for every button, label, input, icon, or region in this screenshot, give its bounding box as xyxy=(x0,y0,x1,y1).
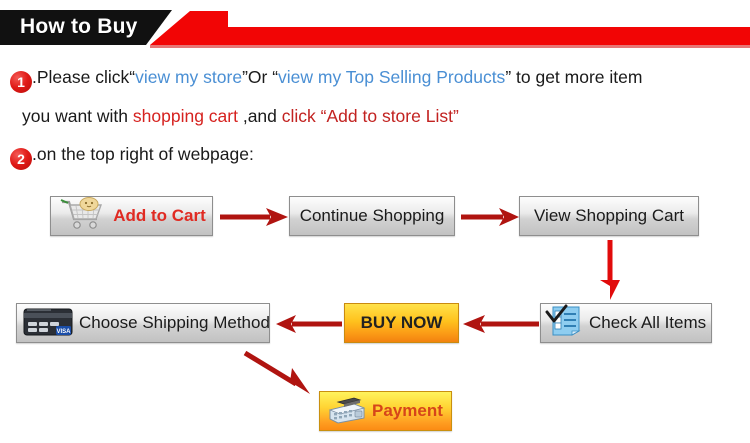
shopping-cart-icon xyxy=(59,197,105,236)
flow-box-buy-now[interactable]: BUY NOW xyxy=(344,303,459,343)
line3-seg-0: .on the top right of webpage: xyxy=(32,144,254,164)
line2-seg-0: you want with xyxy=(22,106,133,126)
credit-card-icon: VISA xyxy=(21,304,75,343)
page-title: How to Buy xyxy=(20,10,150,44)
banner-red-shadow xyxy=(150,45,750,48)
flow-label-view-shopping-cart: View Shopping Cart xyxy=(534,206,684,226)
checklist-icon xyxy=(545,304,585,343)
link-view-my-top-selling-products[interactable]: view my Top Selling Products xyxy=(278,67,505,87)
arrow-left-buynow-to-shipping xyxy=(276,313,344,335)
text-shopping-cart: shopping cart xyxy=(133,106,238,126)
text-add-to-store-list: click “Add to store List” xyxy=(282,106,459,126)
flow-box-view-shopping-cart[interactable]: View Shopping Cart xyxy=(519,196,699,236)
instruction-line-1: 1.Please click“view my store”Or “view my… xyxy=(10,69,642,93)
flow-box-choose-shipping-method[interactable]: VISA Choose Shipping Method xyxy=(16,303,270,343)
flow-label-continue-shopping: Continue Shopping xyxy=(300,206,445,226)
how-to-buy-page: How to Buy 1.Please click“view my store”… xyxy=(0,0,750,443)
arrow-right-continue-to-viewcart xyxy=(459,206,521,228)
instruction-line-3: 2.on the top right of webpage: xyxy=(10,146,254,170)
arrow-diagonal-shipping-to-payment xyxy=(240,348,320,396)
arrow-right-cart-to-continue xyxy=(218,206,290,228)
flow-label-payment: Payment xyxy=(372,401,443,421)
instruction-line-2: you want with shopping cart ,and click “… xyxy=(22,108,459,126)
banner: How to Buy xyxy=(0,0,750,52)
step-1-badge: 1 xyxy=(10,71,32,93)
line2-seg-2: ,and xyxy=(238,106,282,126)
flow-box-payment[interactable]: Payment xyxy=(319,391,452,431)
flow-label-add-to-cart: Add to Cart xyxy=(113,206,206,226)
flow-box-continue-shopping[interactable]: Continue Shopping xyxy=(289,196,455,236)
arrow-left-check-to-buynow xyxy=(463,313,541,335)
flow-box-check-all-items[interactable]: Check All Items xyxy=(540,303,712,343)
line1-seg-2: ”Or “ xyxy=(242,67,278,87)
cash-register-icon xyxy=(324,392,368,431)
link-view-my-store[interactable]: view my store xyxy=(135,67,242,87)
flow-box-add-to-cart[interactable]: Add to Cart xyxy=(50,196,213,236)
arrow-down-viewcart-to-check xyxy=(595,240,625,302)
flow-label-choose-shipping-method: Choose Shipping Method xyxy=(79,313,270,333)
flow-label-buy-now: BUY NOW xyxy=(361,313,443,333)
svg-text:VISA: VISA xyxy=(56,329,71,335)
step-2-badge: 2 xyxy=(10,148,32,170)
flow-label-check-all-items: Check All Items xyxy=(589,313,706,333)
line1-seg-0: .Please click“ xyxy=(32,67,135,87)
line1-seg-4: ” to get more item xyxy=(505,67,642,87)
banner-red-shape xyxy=(150,11,750,45)
